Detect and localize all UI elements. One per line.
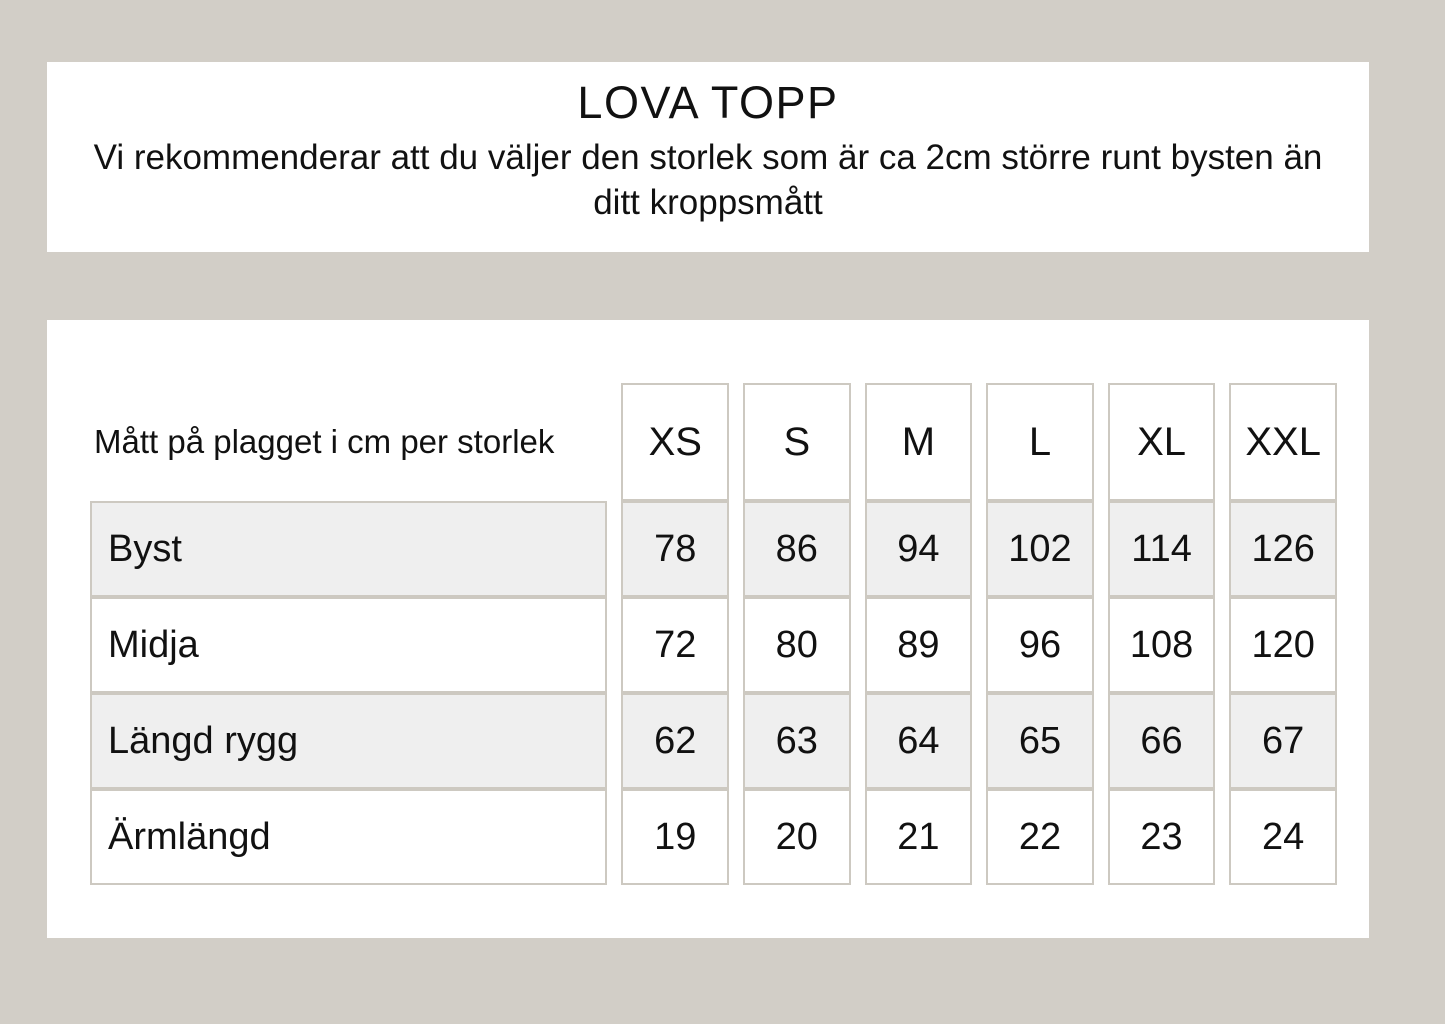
table-row: Ärmlängd 19 20 21 22 23 24 (90, 789, 1337, 885)
size-header-xl: XL (1108, 383, 1216, 501)
cell-armlangd-l: 22 (986, 789, 1094, 885)
measurement-intro-label: Mått på plagget i cm per storlek (90, 383, 607, 501)
table-row: Midja 72 80 89 96 108 120 (90, 597, 1337, 693)
size-table-head: Mått på plagget i cm per storlek XS S M … (90, 383, 1337, 501)
cell-midja-xxl: 120 (1229, 597, 1337, 693)
product-title: LOVA TOPP (577, 76, 838, 131)
cell-byst-xl: 114 (1108, 501, 1216, 597)
cell-langd-rygg-xl: 66 (1108, 693, 1216, 789)
table-row: Byst 78 86 94 102 114 126 (90, 501, 1337, 597)
fit-recommendation-text: Vi rekommenderar att du väljer den storl… (93, 135, 1323, 226)
cell-midja-s: 80 (743, 597, 851, 693)
cell-byst-s: 86 (743, 501, 851, 597)
cell-armlangd-s: 20 (743, 789, 851, 885)
cell-langd-rygg-xs: 62 (621, 693, 729, 789)
cell-midja-l: 96 (986, 597, 1094, 693)
row-label-langd-rygg: Längd rygg (90, 693, 607, 789)
cell-armlangd-xl: 23 (1108, 789, 1216, 885)
cell-byst-xs: 78 (621, 501, 729, 597)
cell-midja-xs: 72 (621, 597, 729, 693)
size-table-body: Byst 78 86 94 102 114 126 Midja 72 80 89… (90, 501, 1337, 885)
table-header-row: Mått på plagget i cm per storlek XS S M … (90, 383, 1337, 501)
cell-langd-rygg-xxl: 67 (1229, 693, 1337, 789)
cell-byst-xxl: 126 (1229, 501, 1337, 597)
size-table-card: Mått på plagget i cm per storlek XS S M … (47, 320, 1369, 938)
size-header-xs: XS (621, 383, 729, 501)
cell-langd-rygg-l: 65 (986, 693, 1094, 789)
cell-byst-m: 94 (865, 501, 973, 597)
cell-byst-l: 102 (986, 501, 1094, 597)
size-header-m: M (865, 383, 973, 501)
cell-langd-rygg-s: 63 (743, 693, 851, 789)
size-header-s: S (743, 383, 851, 501)
cell-langd-rygg-m: 64 (865, 693, 973, 789)
size-table-wrapper: Mått på plagget i cm per storlek XS S M … (76, 383, 1351, 885)
table-row: Längd rygg 62 63 64 65 66 67 (90, 693, 1337, 789)
size-guide-page: LOVA TOPP Vi rekommenderar att du väljer… (0, 0, 1445, 1024)
size-header-l: L (986, 383, 1094, 501)
cell-midja-m: 89 (865, 597, 973, 693)
cell-armlangd-xs: 19 (621, 789, 729, 885)
cell-armlangd-m: 21 (865, 789, 973, 885)
cell-midja-xl: 108 (1108, 597, 1216, 693)
size-table: Mått på plagget i cm per storlek XS S M … (76, 383, 1351, 885)
header-card: LOVA TOPP Vi rekommenderar att du väljer… (47, 62, 1369, 252)
cell-armlangd-xxl: 24 (1229, 789, 1337, 885)
row-label-byst: Byst (90, 501, 607, 597)
row-label-armlangd: Ärmlängd (90, 789, 607, 885)
row-label-midja: Midja (90, 597, 607, 693)
size-header-xxl: XXL (1229, 383, 1337, 501)
